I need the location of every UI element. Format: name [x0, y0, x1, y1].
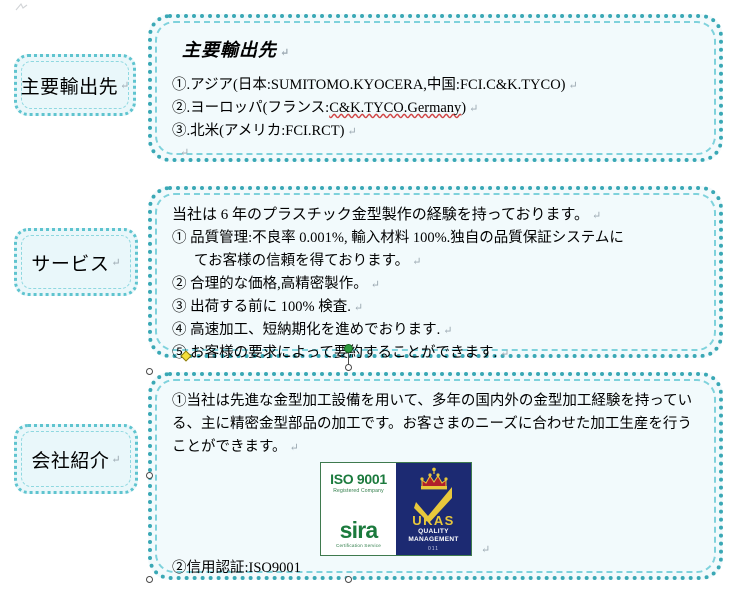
pilcrow-icon: ↵ — [371, 279, 380, 291]
cert-logo-right-panel: UKAS QUALITY MANAGEMENT 011 — [396, 463, 471, 555]
pilcrow-icon: ↵ — [592, 210, 601, 222]
list-item: ①.アジア(日本:SUMITOMO.KYOCERA,中国:FCI.C&K.TYC… — [172, 74, 703, 97]
list-item-text: ①.アジア(日本:SUMITOMO.KYOCERA,中国:FCI.C&K.TYC… — [172, 77, 566, 93]
label-text-company-profile: 会社紹介 — [31, 446, 109, 473]
pilcrow-icon: ↵ — [290, 442, 299, 454]
cert-logo-left-panel: ISO 9001 Registered Company sira Certifi… — [321, 463, 396, 555]
sira-certification-service-subtitle: Certification Service — [336, 543, 381, 548]
label-text-export-destinations: 主要輸出先 — [21, 72, 119, 99]
pilcrow-icon: ↵ — [481, 543, 490, 556]
list-item-continuation: てお客様の信頼を得ております。↵ — [172, 250, 703, 273]
list-item: ②.ヨーロッパ(フランス:C&K.TYCO.Germany)↵ — [172, 97, 703, 120]
iso-registered-company-subtitle: Registered Company — [330, 488, 387, 494]
content-box-body-service: 当社は 6 年のプラスチック金型製作の経験を持っております。↵ ① 品質管理:不… — [152, 190, 719, 375]
pilcrow-icon: ↵ — [111, 453, 120, 466]
iso-9001-title: ISO 9001 — [330, 471, 387, 487]
pilcrow-icon: ↵ — [111, 256, 120, 269]
list-item-text: ② 合理的な価格,高精密製作。 — [172, 276, 368, 292]
resize-handle-middle-left[interactable] — [146, 472, 153, 479]
ukas-management-line: MANAGEMENT — [408, 536, 458, 544]
company-profile-text: ①当社は先進な金型加工設備を用いて、多年の国内外の金型加工経験を持っている、主に… — [172, 393, 692, 455]
resize-handle-top-center[interactable] — [345, 364, 352, 371]
misspelled-word: C&K.TYCO.Germany — [329, 100, 461, 116]
sidebar-label-service[interactable]: サービス ↵ — [14, 228, 138, 296]
list-item: ③.北米(アメリカ:FCI.RCT)↵ — [172, 120, 703, 143]
pilcrow-icon: ↵ — [180, 147, 189, 159]
iso-9001-ukas-certification-logo: ISO 9001 Registered Company sira Certifi… — [320, 462, 472, 556]
pilcrow-icon: ↵ — [412, 256, 421, 268]
sira-brand-group: sira Certification Service — [336, 519, 381, 548]
pilcrow-icon: ↵ — [347, 126, 356, 138]
pilcrow-icon: ↵ — [280, 47, 290, 59]
resize-handle-bottom-center[interactable] — [345, 576, 352, 583]
list-item: ⑤ お客様の要求によって要約することができます.↵ — [172, 342, 703, 365]
list-item: ④ 高速加工、短納期化を進めでおります.↵ — [172, 319, 703, 342]
checkmark-icon — [411, 485, 457, 523]
list-item: ② 合理的な価格,高精密製作。↵ — [172, 273, 703, 296]
label-text-service: サービス — [31, 249, 109, 276]
list-item: ③ 出荷する前に 100% 検査.↵ — [172, 296, 703, 319]
list-item-text: ① 品質管理:不良率 0.001%, 輸入材料 100%.独自の品質保証システム… — [172, 230, 624, 246]
list-item: ① 品質管理:不良率 0.001%, 輸入材料 100%.独自の品質保証システム… — [172, 227, 703, 250]
stray-ink-mark — [14, 2, 30, 14]
list-item-text: ②.ヨーロッパ(フランス: — [172, 100, 329, 116]
pilcrow-icon: ↵ — [120, 79, 129, 92]
list-item-text: てお客様の信頼を得ております。 — [194, 253, 409, 269]
trailing-paragraph-mark-row: ↵ — [172, 143, 703, 161]
list-item-text: ③ 出荷する前に 100% 検査. — [172, 299, 351, 315]
company-profile-paragraph: ①当社は先進な金型加工設備を用いて、多年の国内外の金型加工経験を持っている、主に… — [172, 390, 703, 459]
list-item-text: ③.北米(アメリカ:FCI.RCT) — [172, 123, 344, 139]
pilcrow-icon: ↵ — [469, 103, 478, 115]
company-credential-line: ②信用認証:ISO9001 — [172, 557, 703, 580]
list-item-tail: ) — [461, 100, 466, 116]
content-box-body-export: 主要輸出先↵ ①.アジア(日本:SUMITOMO.KYOCERA,中国:FCI.… — [152, 18, 719, 171]
pilcrow-icon: ↵ — [443, 325, 452, 337]
list-item-text: ④ 高速加工、短納期化を進めでおります. — [172, 322, 440, 338]
pilcrow-icon: ↵ — [569, 80, 578, 92]
content-box-export-destinations[interactable]: 主要輸出先↵ ①.アジア(日本:SUMITOMO.KYOCERA,中国:FCI.… — [148, 14, 723, 162]
company-credential-text: ②信用認証:ISO9001 — [172, 560, 301, 576]
sidebar-label-company-profile[interactable]: 会社紹介 ↵ — [14, 424, 138, 494]
ukas-accreditation-number: 011 — [428, 546, 439, 552]
sira-brand-name: sira — [336, 519, 381, 542]
sidebar-label-export-destinations[interactable]: 主要輸出先 ↵ — [14, 54, 136, 116]
service-intro-text: 当社は 6 年のプラスチック金型製作の経験を持っております。 — [172, 207, 589, 223]
resize-handle-top-left[interactable] — [146, 368, 153, 375]
rotation-handle[interactable] — [344, 344, 353, 353]
resize-handle-bottom-left[interactable] — [146, 576, 153, 583]
heading-text: 主要輸出先 — [182, 40, 277, 60]
pilcrow-icon: ↵ — [500, 348, 509, 360]
content-box-service[interactable]: 当社は 6 年のプラスチック金型製作の経験を持っております。↵ ① 品質管理:不… — [148, 186, 723, 358]
service-intro-line: 当社は 6 年のプラスチック金型製作の経験を持っております。↵ — [172, 204, 703, 227]
iso-title-group: ISO 9001 Registered Company — [330, 471, 387, 494]
list-item-text: ⑤ お客様の要求によって要約することができます. — [172, 345, 497, 361]
ukas-quality-line: QUALITY — [418, 528, 449, 536]
pilcrow-icon: ↵ — [354, 302, 363, 314]
heading-export-destinations: 主要輸出先↵ — [182, 36, 703, 62]
